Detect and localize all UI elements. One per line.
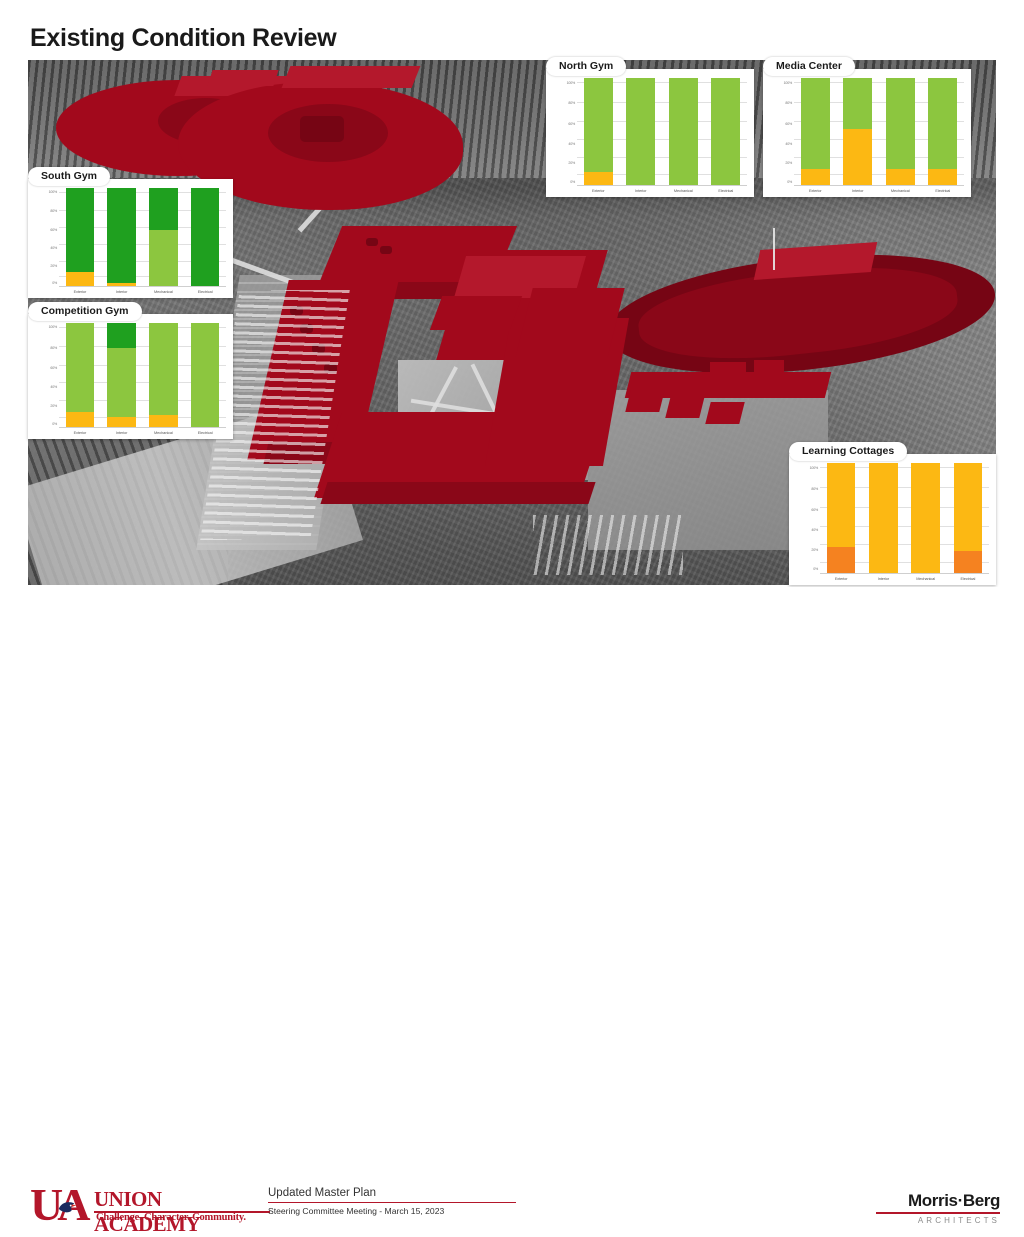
- massing-learning-cottage-3: [705, 402, 744, 424]
- y-axis-north-gym: 100% 80% 60% 40% 20% 0%: [553, 78, 577, 193]
- bar-interior: [107, 188, 135, 286]
- bar-segment: [107, 348, 135, 417]
- bar-electrical: [711, 78, 740, 185]
- parked-cars-south: [533, 515, 683, 575]
- rooftop-unit-5: [366, 238, 378, 246]
- massing-ballfield-east-diamond: [300, 116, 344, 142]
- morris-berg-logo: Morris·Berg ARCHITECTS: [876, 1191, 1000, 1225]
- bar-segment: [107, 417, 135, 427]
- bar-exterior: [584, 78, 613, 185]
- bar-segment: [669, 78, 698, 185]
- chart-learning-cottages: 100% 80% 60% 40% 20% 0% Exterior Interio: [789, 454, 996, 585]
- bar-electrical: [191, 323, 219, 427]
- bar-segment: [66, 323, 94, 412]
- bar-segment: [928, 169, 957, 185]
- bar-segment: [827, 547, 856, 573]
- massing-learning-cottage-2: [665, 396, 704, 418]
- bar-segment: [801, 78, 830, 169]
- project-meeting: Steering Committee Meeting - March 15, 2…: [268, 1206, 528, 1216]
- union-academy-logo: UA UNION ACADEMY Challenge. Character. C…: [30, 1181, 270, 1231]
- y-axis-learning-cottages: 100% 80% 60% 40% 20% 0%: [796, 463, 820, 581]
- x-axis-media-center: Exterior Interior Mechanical Electrical: [794, 185, 964, 193]
- bar-mechanical: [149, 323, 177, 427]
- massing-learning-cottage-1: [625, 390, 664, 412]
- bar-segment: [886, 78, 915, 169]
- y-axis-south-gym: 100% 80% 60% 40% 20% 0%: [35, 188, 59, 294]
- bar-segment: [107, 323, 135, 348]
- firm-subtitle: ARCHITECTS: [876, 1216, 1000, 1225]
- bars-media-center: [794, 78, 964, 185]
- project-title: Updated Master Plan: [268, 1187, 528, 1199]
- panel-title-competition-gym: Competition Gym: [28, 302, 142, 321]
- bar-electrical: [954, 463, 983, 573]
- bar-segment: [107, 283, 135, 286]
- massing-outbuilding-a: [710, 362, 746, 388]
- bar-exterior: [801, 78, 830, 185]
- panel-media-center[interactable]: Media Center 100% 80% 60% 40% 20% 0%: [763, 56, 971, 197]
- bar-segment: [869, 463, 898, 573]
- page-title: Existing Condition Review: [30, 24, 336, 53]
- panel-learning-cottages[interactable]: Learning Cottages 100% 80% 60% 40% 20% 0…: [789, 441, 996, 585]
- bar-segment: [626, 78, 655, 185]
- bar-segment: [149, 323, 177, 415]
- y-axis-competition-gym: 100% 80% 60% 40% 20% 0%: [35, 323, 59, 435]
- massing-outbuilding-b: [754, 360, 784, 384]
- panel-north-gym[interactable]: North Gym 100% 80% 60% 40% 20% 0%: [546, 56, 754, 197]
- bar-segment: [928, 78, 957, 169]
- bar-exterior: [66, 188, 94, 286]
- bar-segment: [827, 463, 856, 547]
- bar-mechanical: [669, 78, 698, 185]
- bar-segment: [191, 323, 219, 427]
- bars-north-gym: [577, 78, 747, 185]
- bar-mechanical: [911, 463, 940, 573]
- x-axis-north-gym: Exterior Interior Mechanical Electrical: [577, 185, 747, 193]
- plot-area-competition-gym: [59, 323, 226, 427]
- bar-segment: [843, 129, 872, 185]
- bar-segment: [584, 172, 613, 185]
- panel-south-gym[interactable]: South Gym 100% 80% 60% 40% 20% 0%: [28, 166, 233, 298]
- bar-segment: [886, 169, 915, 185]
- chart-north-gym: 100% 80% 60% 40% 20% 0% Exterior Interio: [546, 69, 754, 197]
- x-axis-competition-gym: Exterior Interior Mechanical Electrical: [59, 427, 226, 435]
- bars-learning-cottages: [820, 463, 989, 573]
- rooftop-unit-6: [380, 246, 392, 254]
- bars-south-gym: [59, 188, 226, 286]
- light-pole-mast: [773, 228, 775, 270]
- panel-title-learning-cottages: Learning Cottages: [789, 442, 907, 461]
- panel-title-media-center: Media Center: [763, 57, 855, 76]
- project-info: Updated Master Plan Steering Committee M…: [268, 1187, 528, 1216]
- project-rule: [268, 1202, 516, 1203]
- eagle-icon: [56, 1197, 78, 1219]
- bar-interior: [107, 323, 135, 427]
- plot-area-learning-cottages: [820, 463, 989, 573]
- firm-rule: [876, 1212, 1000, 1214]
- plot-area-north-gym: [577, 78, 747, 185]
- massing-cafeteria: [515, 288, 624, 358]
- massing-pressbox: [207, 70, 278, 86]
- chart-competition-gym: 100% 80% 60% 40% 20% 0% Exterior Interio: [28, 314, 233, 439]
- academy-tagline: Challenge. Character. Community.: [96, 1212, 246, 1223]
- bar-mechanical: [149, 188, 177, 286]
- panel-competition-gym[interactable]: Competition Gym 100% 80% 60% 40% 20% 0%: [28, 301, 233, 439]
- bar-segment: [584, 78, 613, 172]
- bar-interior: [843, 78, 872, 185]
- bar-mechanical: [886, 78, 915, 185]
- x-axis-south-gym: Exterior Interior Mechanical Electrical: [59, 286, 226, 294]
- massing-connector: [430, 296, 522, 330]
- firm-name: Morris·Berg: [876, 1191, 1000, 1211]
- panel-title-south-gym: South Gym: [28, 167, 110, 186]
- bar-segment: [107, 188, 135, 283]
- chart-south-gym: 100% 80% 60% 40% 20% 0% Exterior Interio: [28, 179, 233, 298]
- plot-area-media-center: [794, 78, 964, 185]
- bar-interior: [869, 463, 898, 573]
- bar-electrical: [191, 188, 219, 286]
- bar-interior: [626, 78, 655, 185]
- bar-segment: [66, 188, 94, 272]
- bar-segment: [191, 188, 219, 286]
- bar-segment: [954, 463, 983, 551]
- bar-electrical: [928, 78, 957, 185]
- bar-segment: [149, 415, 177, 427]
- bar-segment: [843, 78, 872, 129]
- y-axis-media-center: 100% 80% 60% 40% 20% 0%: [770, 78, 794, 193]
- x-axis-learning-cottages: Exterior Interior Mechanical Electrical: [820, 573, 989, 581]
- footer: UA UNION ACADEMY Challenge. Character. C…: [0, 587, 1024, 663]
- bar-segment: [149, 230, 177, 286]
- plot-area-south-gym: [59, 188, 226, 286]
- bar-exterior: [827, 463, 856, 573]
- bar-segment: [801, 169, 830, 185]
- bar-segment: [911, 463, 940, 573]
- bars-competition-gym: [59, 323, 226, 427]
- bar-segment: [149, 188, 177, 230]
- bar-segment: [66, 412, 94, 427]
- chart-media-center: 100% 80% 60% 40% 20% 0% Exterior Interio: [763, 69, 971, 197]
- massing-bleachers-east: [282, 66, 421, 88]
- massing-south-wing-shade: [320, 482, 595, 504]
- bar-segment: [711, 78, 740, 185]
- bar-segment: [66, 272, 94, 286]
- bar-segment: [954, 551, 983, 573]
- panel-title-north-gym: North Gym: [546, 57, 626, 76]
- bar-exterior: [66, 323, 94, 427]
